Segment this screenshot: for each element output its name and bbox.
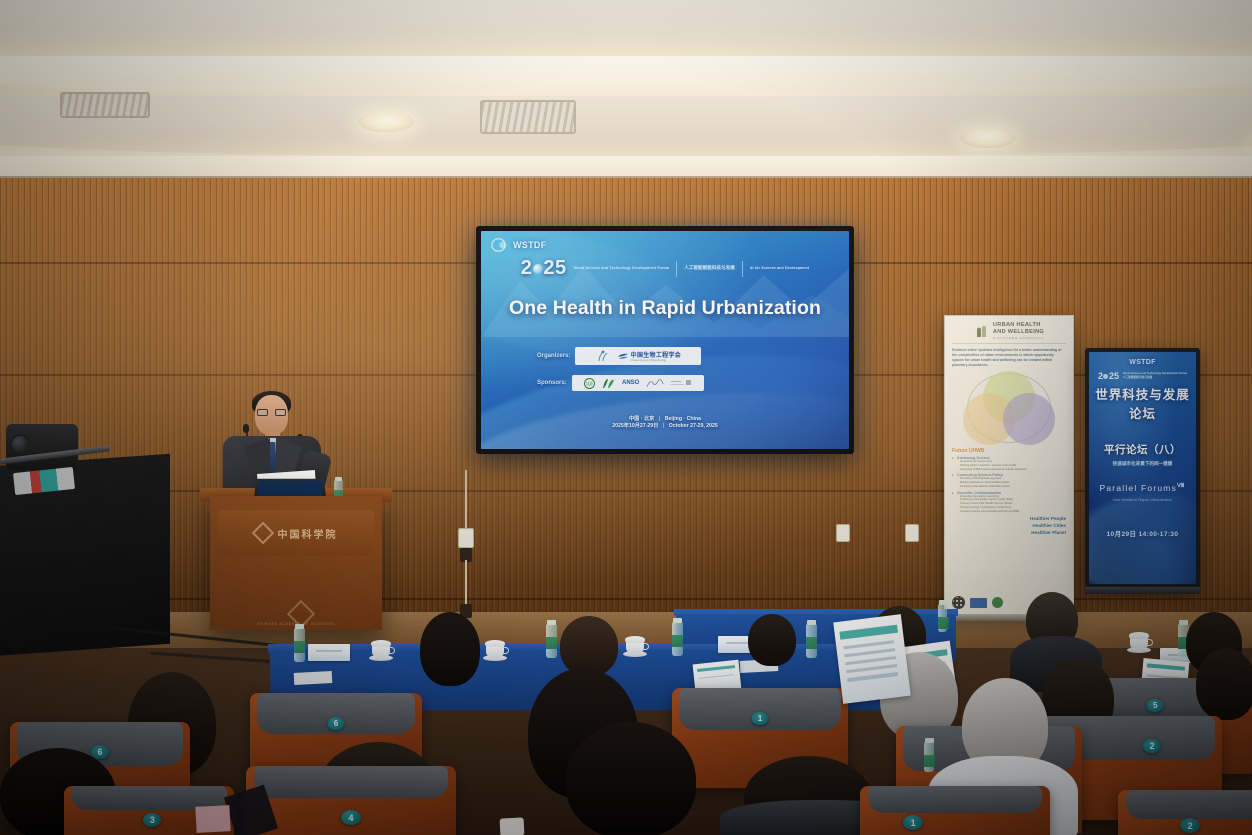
ceiling [0, 0, 1252, 200]
ceiling-band-mid [0, 96, 1252, 158]
seat[interactable]: 4 [246, 766, 456, 835]
seat-number-badge: 1 [752, 712, 769, 725]
cbs-logo: 中国生物工程学会 Chinese Society of Biotechnolog… [617, 351, 681, 362]
venn-circle-health [1003, 393, 1055, 445]
audience-head [1196, 648, 1252, 720]
signage-wstdf-logo: WSTDF [1089, 359, 1196, 366]
poster-venn-diagram [963, 371, 1055, 445]
signage-year-row: 225 World Science and Technology Develop… [1089, 371, 1196, 381]
teacup-with-lid [624, 636, 646, 655]
speaker-podium: 中国科学院 CHINESE ACADEMY OF SCIENCES [210, 496, 382, 630]
teacup-with-lid [484, 640, 506, 659]
screen-content: WSTDF 225 World Science and Technology D… [481, 231, 849, 449]
wstdf-logo: WSTDF [491, 237, 547, 253]
seat-number-badge: 6 [328, 717, 345, 730]
script-icon [646, 378, 664, 389]
audience-head [560, 616, 618, 676]
poster-bullet-item: Building applications / demonstration pr… [952, 481, 1066, 485]
teacup-with-lid [1128, 632, 1150, 651]
teacup-with-lid [370, 640, 392, 659]
screen-footer-location: 中国 · 北京 | Beijing · China [481, 416, 849, 423]
footer-sep: | [663, 423, 664, 429]
audience-head [748, 614, 796, 666]
eyeglasses-icon [257, 409, 286, 416]
green-seal-icon [992, 597, 1003, 608]
seat[interactable]: 2 [1118, 790, 1252, 835]
cbs-name-en: Chinese Society of Biotechnology [631, 359, 681, 362]
bottle-label [546, 637, 557, 649]
screen-footer-date: 2025年10月27-29日 | October 27-29, 2025 [481, 423, 849, 430]
wstdf-mark-icon [491, 237, 511, 253]
poster-bullet-item: Training: Future Urban Wealth Summer Sch… [952, 502, 1066, 506]
poster-body-text: Enhance cities' systems intelligence for… [952, 348, 1066, 368]
header-divider [676, 261, 677, 277]
seat-number-badge: 2 [1180, 818, 1200, 833]
sponsor-logo-bar: IUI ANSO [572, 375, 704, 391]
footer-cn: 中国 · 北京 [629, 416, 654, 422]
leaf-icon [602, 378, 615, 389]
anso-logo-text: ANSO [622, 380, 639, 386]
printed-program [833, 614, 910, 704]
poster-bullet-item: Expanding international networking [952, 495, 1066, 499]
signage-forum-cn: 平行论坛（八） [1089, 442, 1196, 457]
slogan-line: Healthier Cities [952, 523, 1066, 530]
poster-bullet-group: Advancing Science Re-assuring of science… [952, 456, 1066, 513]
poster-header: URBAN HEALTH AND WELLBEING A SYSTEMS APP… [952, 322, 1066, 344]
laptop-screen [257, 481, 323, 497]
screen-header-cn-en: AI for Science and Development [750, 266, 809, 271]
screen-year: 225 [521, 257, 567, 280]
signage-title-cn: 世界科技与发展论坛 [1089, 384, 1196, 422]
recessed-downlight-icon [960, 128, 1016, 148]
cup-lid [625, 636, 645, 643]
forum-en-text: Parallel Forums [1100, 483, 1178, 493]
program-accent-bar [697, 665, 736, 672]
sponsors-row: Sponsors: IUI ANSO [537, 375, 704, 391]
footer-sep: | [659, 416, 660, 422]
organizer-logo-bar: 中国生物工程学会 Chinese Society of Biotechnolog… [575, 347, 701, 365]
organizers-label: Organizers: [537, 353, 570, 359]
poster-title-2: AND WELLBEING [993, 329, 1044, 336]
bottle-cap [925, 738, 934, 743]
poster-title-1: URBAN HEALTH [993, 322, 1044, 329]
conference-room-photo: WSTDF 225 World Science and Technology D… [0, 0, 1252, 835]
camera-lens-icon [10, 434, 30, 454]
slogan-line: Healthier Planet [952, 530, 1066, 537]
bottle-cap [673, 618, 682, 623]
venn-circle-environment [983, 371, 1035, 423]
bottle-label [672, 635, 683, 647]
seat-number-badge: 2 [1143, 739, 1161, 753]
recessed-downlight-icon [358, 112, 414, 132]
cbs-name-cn: 中国生物工程学会 [631, 350, 681, 359]
bottle-cap [547, 620, 556, 625]
video-camera-icon [6, 424, 78, 470]
screen-header-en: World Science and Technology Development… [574, 266, 670, 271]
water-bottle[interactable] [924, 742, 934, 772]
poster-bullet-item: Publishing series (books / reports / pol… [952, 498, 1066, 502]
cove-light-strip-1 [0, 56, 1252, 98]
seat-cushion [254, 766, 447, 798]
bottle-cap [939, 600, 948, 605]
poster-subtitle: A SYSTEMS APPROACH [993, 336, 1044, 340]
water-bottle[interactable] [672, 622, 683, 656]
bottle-label [806, 637, 817, 649]
microphone-icon [243, 424, 249, 433]
cbs-icon [617, 351, 629, 361]
poster-bullet-heading: Scientific Communication [952, 491, 1066, 495]
podium-front-plaque: 中国科学院 [218, 510, 374, 556]
seat-cushion [868, 786, 1043, 813]
seat-cushion [1126, 790, 1252, 819]
bottle-label [294, 641, 305, 653]
program-line [699, 674, 734, 679]
urban-health-mark-icon [974, 323, 990, 339]
poster-bullet-item: Defining indices / practices / measure u… [952, 464, 1066, 468]
international-science-council-icon [952, 596, 965, 609]
signage-content: WSTDF 225 World Science and Technology D… [1089, 352, 1196, 584]
cup-lid [1129, 632, 1149, 639]
iui-icon: IUI [584, 378, 595, 389]
cas-emblem-icon [251, 522, 274, 545]
screen-footer: 中国 · 北京 | Beijing · China 2025年10月27-29日… [481, 416, 849, 430]
slogan-line: Healthier People [952, 516, 1066, 523]
venn-outer-arc [967, 373, 1051, 443]
partner-icon [671, 378, 691, 388]
ceiling-band-outer [0, 0, 1252, 58]
poster-bullet-heading: Advancing Science [952, 456, 1066, 460]
bottle-cap [335, 477, 342, 481]
audience-head [420, 612, 480, 686]
program-accent-bar [1146, 664, 1185, 671]
screen-title: One Health in Rapid Urbanization [481, 297, 849, 320]
cup-lid [485, 640, 505, 647]
poster-section-title: Future UHWB [952, 448, 1066, 454]
seat-number-badge: 1 [903, 815, 923, 830]
name-card [308, 644, 350, 661]
bottle-label [938, 617, 949, 629]
poster-bullet-item: Re-assuring of science focus [952, 460, 1066, 464]
bottle-label [924, 755, 935, 767]
wall-outlet-plate[interactable] [458, 528, 474, 548]
wall-outlet-plate[interactable] [836, 524, 850, 542]
water-bottle[interactable] [294, 628, 305, 662]
signage-forum-cn-sub: 快速城市化背景下的同一健康 [1089, 461, 1196, 467]
footer-date-en: October 27-29, 2025 [669, 423, 718, 429]
bottle-cap [1179, 620, 1188, 625]
bottle-cap [295, 624, 304, 629]
poster-bullet-item: Promoting transdisciplinary approach [952, 477, 1066, 481]
screen-header: 225 World Science and Technology Develop… [481, 257, 849, 280]
wall-cable [465, 560, 467, 610]
footer-en: Beijing · China [665, 416, 701, 422]
forum-numeral: Ⅷ [1177, 483, 1185, 489]
poster-bullet-item: Supporting UHWB systems approach & metho… [952, 468, 1066, 472]
irdr-icon [970, 598, 987, 608]
venn-circle-society [963, 393, 1015, 445]
svg-text:IUI: IUI [586, 381, 592, 387]
hvac-vent-icon [480, 100, 576, 134]
signage-header-cn: 人工智能赋能 科技与发展 [1123, 376, 1187, 380]
signage-stand-base [1085, 587, 1200, 594]
cup-lid [371, 640, 391, 647]
seat-number-badge: 3 [143, 813, 161, 827]
water-bottle[interactable] [806, 624, 817, 658]
main-led-screen: WSTDF 225 World Science and Technology D… [476, 226, 854, 454]
water-bottle[interactable] [546, 624, 557, 658]
poster-bullet-item: Developing international collaboration p… [952, 485, 1066, 489]
small-item [500, 817, 525, 835]
footer-date-cn: 2025年10月27-29日 [612, 423, 658, 429]
screen-header-cn: 人工智能赋能科技与发展 [684, 265, 735, 272]
program-line [847, 672, 899, 682]
digital-signage-display: WSTDF 225 World Science and Technology D… [1085, 348, 1200, 588]
signage-year: 225 [1098, 371, 1119, 381]
pink-folder [195, 805, 230, 833]
wall-cable [465, 470, 467, 528]
hand-plant-icon [596, 350, 610, 362]
sponsors-label: Sponsors: [537, 380, 567, 386]
seat-number-badge: 5 [1147, 699, 1164, 712]
roll-up-banner-urban-health: URBAN HEALTH AND WELLBEING A SYSTEMS APP… [944, 315, 1074, 615]
wall-outlet-plate[interactable] [905, 524, 919, 542]
seat[interactable]: 1 [860, 786, 1050, 835]
podium-org-cn: 中国科学院 [278, 526, 338, 541]
water-bottle[interactable] [938, 604, 947, 632]
wstdf-logo-text: WSTDF [513, 240, 547, 250]
program-accent-bar [840, 625, 898, 640]
poster-slogan: Healthier People Healthier Cities Health… [952, 516, 1066, 537]
organizers-row: Organizers: 中国生物工程学会 Chinese Societ [537, 347, 701, 365]
signage-forum-en: Parallel ForumsⅧ [1089, 483, 1196, 493]
poster-bullet-item: Improving science communication with ISC… [952, 510, 1066, 514]
seat-number-badge: 4 [341, 810, 361, 825]
hvac-vent-icon [60, 92, 150, 118]
header-divider [742, 261, 743, 277]
printed-handout [294, 671, 333, 685]
audience-head [566, 722, 696, 835]
poster-bullet-heading: Connecting Science-Policy [952, 473, 1066, 477]
poster-bullet-item: Hosting meetings / symposiums / conferen… [952, 506, 1066, 510]
bottle-cap [807, 620, 816, 625]
